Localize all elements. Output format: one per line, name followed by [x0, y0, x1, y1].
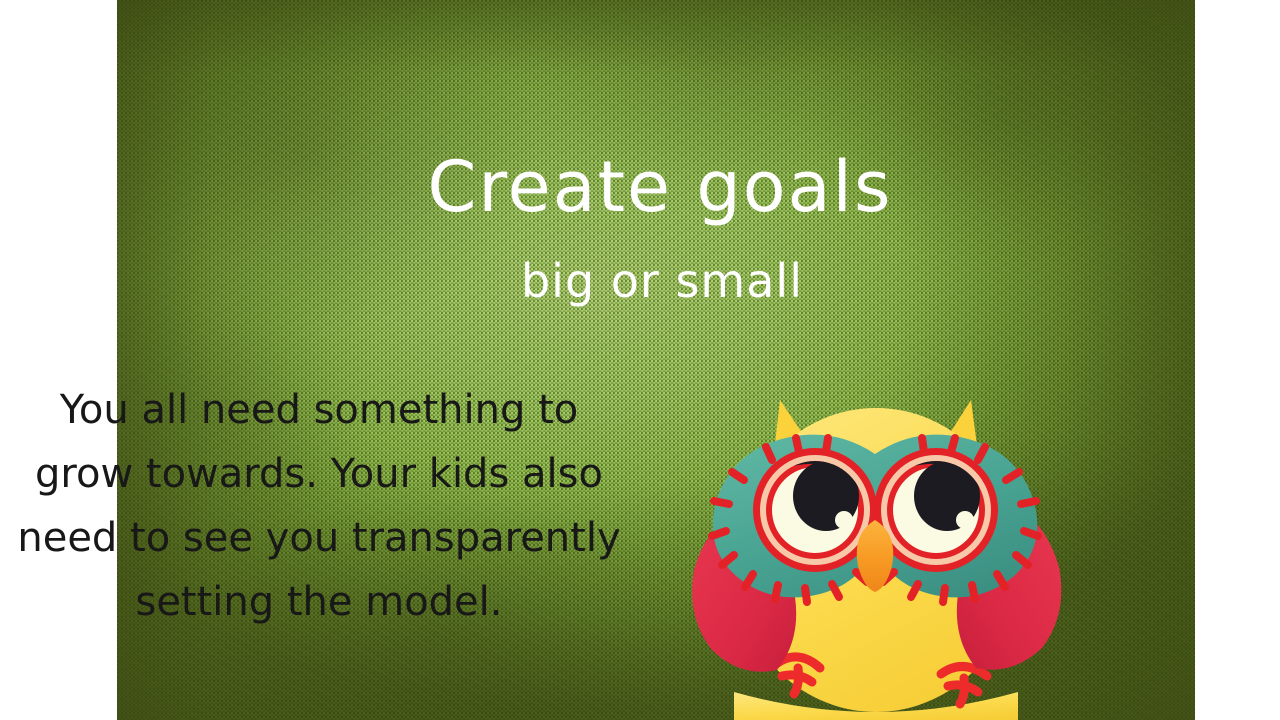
slide-root: Create goals big or small You all need s…: [0, 0, 1280, 720]
slide-title: Create goals: [0, 152, 1280, 222]
owl-illustration: [668, 392, 1108, 720]
slide-body-text: You all need something to grow towards. …: [14, 378, 624, 634]
slide-subtitle: big or small: [0, 258, 1280, 304]
